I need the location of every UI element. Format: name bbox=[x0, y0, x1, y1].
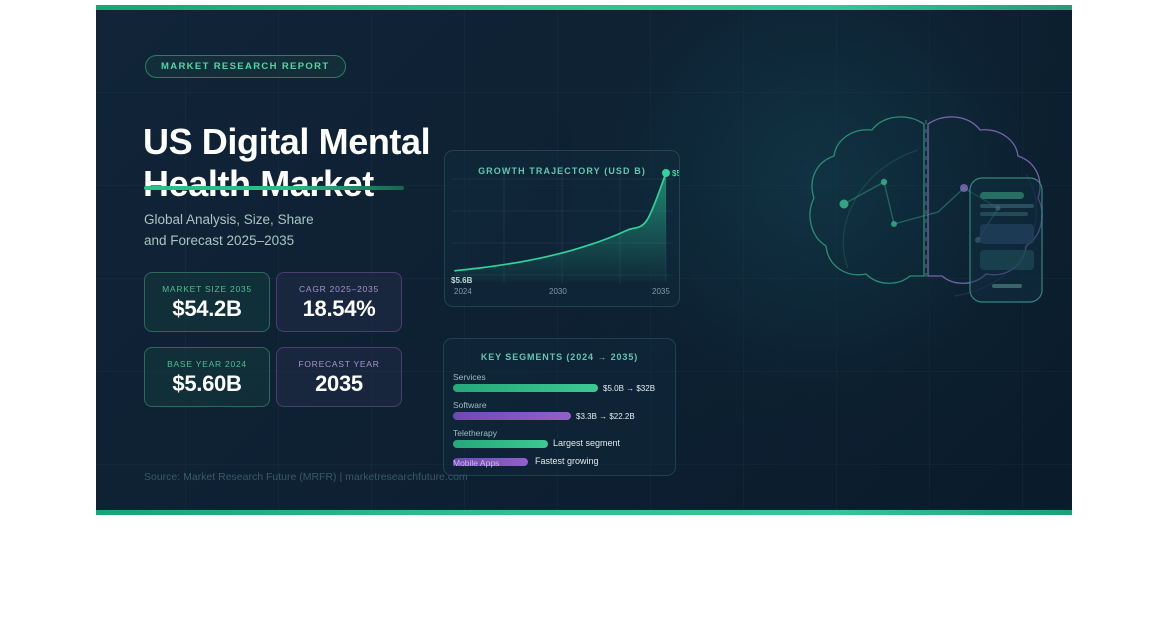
segment-software-label: Software bbox=[453, 400, 487, 410]
stat-card-forecast-year: FORECAST YEAR 2035 bbox=[276, 347, 402, 407]
growth-chart-tick-2035: 2035 bbox=[652, 287, 670, 296]
page-subtitle-line1: Global Analysis, Size, Share bbox=[144, 212, 314, 227]
accent-bar-top bbox=[96, 5, 1072, 10]
accent-bar-bottom bbox=[96, 510, 1072, 515]
segment-services-label: Services bbox=[453, 372, 486, 382]
stat-card-base-year: BASE YEAR 2024 $5.60B bbox=[144, 347, 270, 407]
page-title-line2: Health Market bbox=[143, 163, 374, 204]
growth-chart-panel: GROWTH TRAJECTORY (USD B) bbox=[444, 150, 680, 307]
growth-chart-start-label: $5.6B bbox=[451, 276, 472, 285]
segment-teletherapy-bar bbox=[453, 440, 548, 448]
segment-teletherapy-note: Largest segment bbox=[553, 438, 620, 448]
stat-card-market-size-value: $54.2B bbox=[172, 297, 241, 321]
report-badge: MARKET RESEARCH REPORT bbox=[145, 55, 346, 78]
brain-network-icon bbox=[786, 100, 1066, 320]
stat-card-base-year-label: BASE YEAR 2024 bbox=[167, 359, 247, 369]
key-segments-title: KEY SEGMENTS (2024 → 2035) bbox=[444, 352, 675, 362]
growth-chart-endpoint bbox=[662, 169, 670, 177]
source-attribution: Source: Market Research Future (MRFR) | … bbox=[144, 471, 468, 483]
stat-card-market-size: MARKET SIZE 2035 $54.2B bbox=[144, 272, 270, 332]
segment-mobile-apps-label: Mobile Apps bbox=[453, 458, 499, 468]
stat-card-forecast-year-label: FORECAST YEAR bbox=[298, 359, 379, 369]
segment-teletherapy-label: Teletherapy bbox=[453, 428, 497, 438]
page-title-line1: US Digital Mental bbox=[143, 121, 430, 162]
growth-chart-end-label: $54.2B bbox=[672, 169, 680, 178]
mobile-device-icon bbox=[970, 178, 1042, 302]
page-subtitle-line2: and Forecast 2025–2035 bbox=[144, 233, 294, 248]
key-segments-panel: KEY SEGMENTS (2024 → 2035) Services $5.0… bbox=[443, 338, 676, 476]
stat-card-cagr: CAGR 2025–2035 18.54% bbox=[276, 272, 402, 332]
page-subtitle: Global Analysis, Size, Share and Forecas… bbox=[144, 210, 474, 251]
growth-chart-plot bbox=[445, 151, 679, 306]
stat-card-market-size-label: MARKET SIZE 2035 bbox=[162, 284, 252, 294]
segment-services-value: $5.0B → $32B bbox=[603, 384, 655, 393]
stat-card-cagr-value: 18.54% bbox=[303, 297, 376, 321]
segment-mobile-apps-note: Fastest growing bbox=[535, 456, 599, 466]
title-underline bbox=[144, 186, 404, 190]
segment-software-bar bbox=[453, 412, 571, 420]
stat-card-base-year-value: $5.60B bbox=[172, 372, 241, 396]
growth-chart-tick-2030: 2030 bbox=[549, 287, 567, 296]
stat-card-forecast-year-value: 2035 bbox=[315, 372, 363, 396]
segment-software-value: $3.3B → $22.2B bbox=[576, 412, 635, 421]
report-badge-label: MARKET RESEARCH REPORT bbox=[161, 61, 330, 72]
stat-card-cagr-label: CAGR 2025–2035 bbox=[299, 284, 379, 294]
segment-services-bar bbox=[453, 384, 598, 392]
growth-chart-tick-2024: 2024 bbox=[454, 287, 472, 296]
report-canvas: MARKET RESEARCH REPORT US Digital Mental… bbox=[96, 5, 1072, 515]
